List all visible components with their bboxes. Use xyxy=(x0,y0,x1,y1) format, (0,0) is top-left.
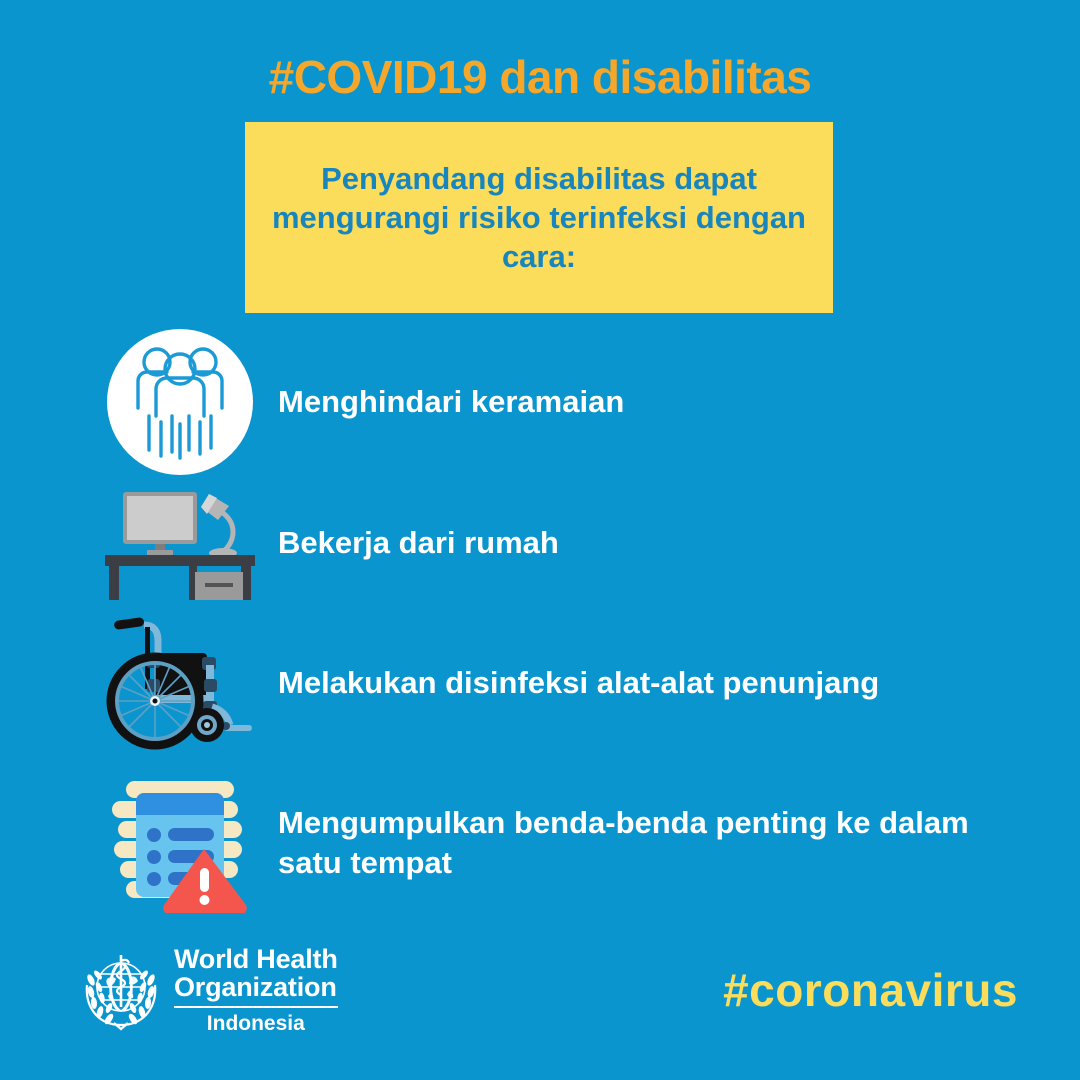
list-item-label: Menghindari keramaian xyxy=(278,382,624,422)
who-wordmark: World Health Organization Indonesia xyxy=(174,945,338,1036)
list-item-label: Melakukan disinfeksi alat-alat penunjang xyxy=(278,663,879,703)
who-emblem-icon xyxy=(80,949,162,1033)
callout-box: Penyandang disabilitas dapat mengurangi … xyxy=(245,122,833,313)
poster-canvas: #COVID19 dan disabilitas Penyandang disa… xyxy=(0,0,1080,1080)
who-country-label: Indonesia xyxy=(174,1012,338,1036)
who-name-line2: Organization xyxy=(174,973,338,1001)
list-item: Mengumpulkan benda-benda penting ke dala… xyxy=(90,765,1018,920)
list-item: Menghindari keramaian xyxy=(90,322,624,482)
hashtag-coronavirus: #coronavirus xyxy=(723,963,1018,1017)
who-name-line1: World Health xyxy=(174,945,338,973)
list-item-label: Mengumpulkan benda-benda penting ke dala… xyxy=(278,803,1018,882)
list-item: Bekerja dari rumah xyxy=(90,480,559,606)
list-item-label: Bekerja dari rumah xyxy=(278,523,559,563)
crowd-people-icon xyxy=(90,324,270,480)
callout-text: Penyandang disabilitas dapat mengurangi … xyxy=(245,159,833,276)
list-item: Melakukan disinfeksi alat-alat penunjang xyxy=(90,607,879,759)
desk-computer-icon xyxy=(90,484,270,602)
page-title: #COVID19 dan disabilitas xyxy=(0,50,1080,104)
divider xyxy=(174,1006,338,1008)
who-logo: World Health Organization Indonesia xyxy=(80,945,338,1036)
wheelchair-icon xyxy=(90,613,270,753)
checklist-alert-icon xyxy=(90,773,270,913)
